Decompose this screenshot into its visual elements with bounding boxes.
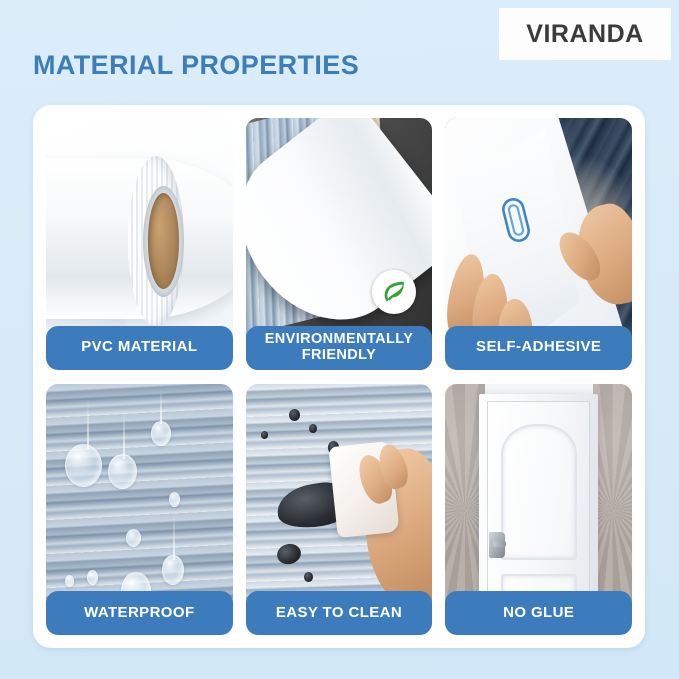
features-grid: PVC MATERIAL ENVIRON xyxy=(46,118,632,635)
leaf-icon xyxy=(372,270,416,314)
feature-label-waterproof: WATERPROOF xyxy=(46,591,233,635)
page-header: MATERIAL PROPERTIES VIRANDA xyxy=(0,0,679,105)
page-title: MATERIAL PROPERTIES xyxy=(33,50,359,81)
feature-card-pvc-material[interactable]: PVC MATERIAL xyxy=(46,118,233,370)
feature-label-pvc-material: PVC MATERIAL xyxy=(46,326,233,370)
label-line-2: FRIENDLY xyxy=(302,347,376,363)
feature-card-no-glue[interactable]: NO GLUE xyxy=(445,384,632,636)
feature-card-environmentally-friendly[interactable]: ENVIRONMENTALLY FRIENDLY xyxy=(246,118,433,370)
feature-label-no-glue: NO GLUE xyxy=(445,591,632,635)
feature-card-self-adhesive[interactable]: SELF-ADHESIVE xyxy=(445,118,632,370)
label-line-1: ENVIRONMENTALLY xyxy=(265,331,414,347)
brand-name: VIRANDA xyxy=(526,20,643,49)
feature-label-self-adhesive: SELF-ADHESIVE xyxy=(445,326,632,370)
feature-label-easy-to-clean: EASY TO CLEAN xyxy=(246,591,433,635)
feature-card-easy-to-clean[interactable]: EASY TO CLEAN xyxy=(246,384,433,636)
feature-label-environmentally-friendly: ENVIRONMENTALLY FRIENDLY xyxy=(246,326,433,370)
feature-card-waterproof[interactable]: WATERPROOF xyxy=(46,384,233,636)
features-panel: PVC MATERIAL ENVIRON xyxy=(33,105,645,648)
brand-logo-box: VIRANDA xyxy=(499,8,671,60)
